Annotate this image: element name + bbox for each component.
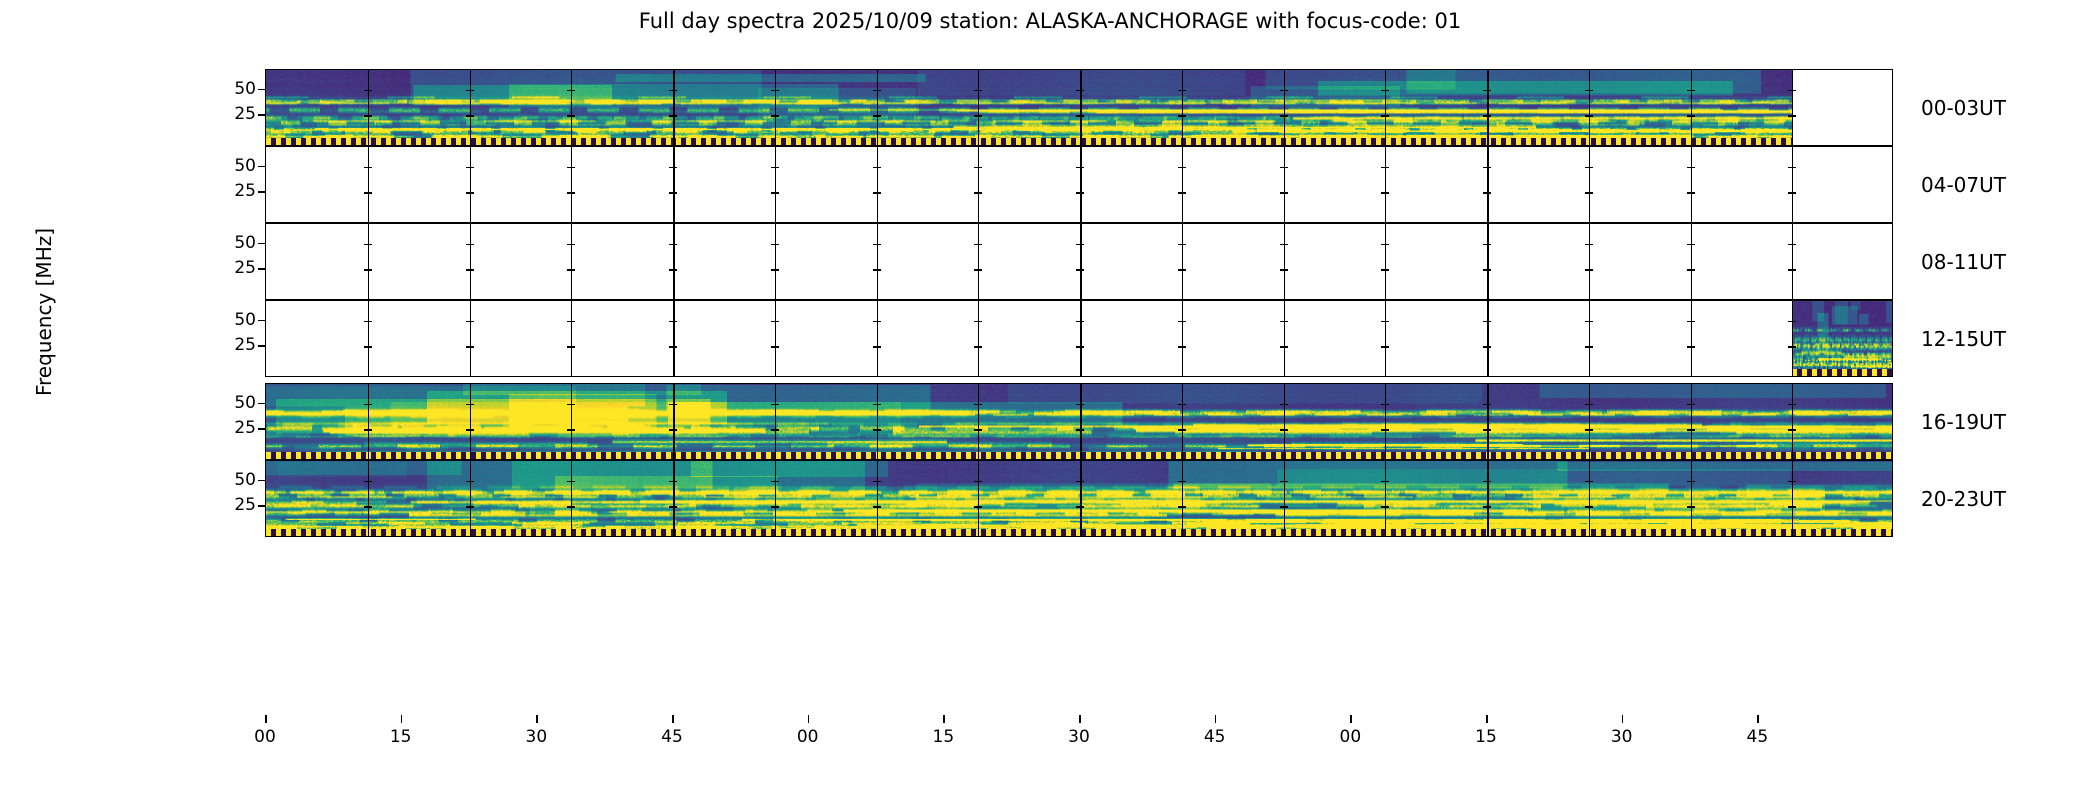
x-tick-label: 00 — [254, 727, 276, 747]
y-tick-inner — [1076, 269, 1084, 271]
y-tick-inner — [669, 192, 677, 194]
y-tick-inner — [1076, 167, 1084, 169]
y-tick-inner — [567, 404, 575, 406]
segment-separator — [1080, 224, 1082, 299]
x-tick-label: 30 — [1611, 727, 1633, 747]
y-tick-inner — [974, 192, 982, 194]
y-tick-inner — [873, 167, 881, 169]
y-tick-label-25: 25 — [234, 418, 256, 438]
segment-separator — [1589, 147, 1590, 222]
y-tick-inner — [1483, 244, 1491, 246]
segment-separator — [1385, 147, 1386, 222]
y-tick-inner — [466, 506, 474, 508]
y-tick-inner — [1280, 506, 1288, 508]
y-tick-inner — [1178, 115, 1186, 117]
segment-separator — [571, 70, 572, 145]
segment-separator — [1691, 461, 1692, 536]
segment-separator — [978, 147, 979, 222]
y-tick-label-50: 50 — [234, 310, 256, 330]
y-tick-inner — [1076, 192, 1084, 194]
figure-title: Full day spectra 2025/10/09 station: ALA… — [0, 9, 2100, 33]
row-plot-area[interactable] — [265, 460, 1893, 537]
segment-separator — [470, 147, 471, 222]
y-tick-inner — [873, 506, 881, 508]
segment-separator — [978, 224, 979, 299]
y-tick-inner — [1585, 167, 1593, 169]
y-tick-inner — [364, 244, 372, 246]
y-tick-inner — [1788, 481, 1796, 483]
row-plot-area[interactable] — [265, 69, 1893, 146]
segment-separator — [1589, 384, 1590, 459]
y-tick-inner — [771, 269, 779, 271]
y-tick-inner — [771, 404, 779, 406]
y-tick-label-50: 50 — [234, 470, 256, 490]
y-tick-inner — [567, 192, 575, 194]
y-tick-inner — [1788, 167, 1796, 169]
y-tick-inner — [1076, 90, 1084, 92]
y-tick-inner — [1585, 192, 1593, 194]
segment-separator — [775, 147, 776, 222]
x-tick — [808, 715, 810, 723]
y-tick-inner — [771, 115, 779, 117]
y-tick-inner — [1585, 506, 1593, 508]
segment-separator — [673, 70, 675, 145]
y-tick-inner — [1687, 404, 1695, 406]
y-tick-inner — [1280, 115, 1288, 117]
y-tick-inner — [1280, 321, 1288, 323]
y-tick-inner — [1381, 429, 1389, 431]
segment-separator — [1182, 224, 1183, 299]
y-tick-label-50: 50 — [234, 393, 256, 413]
y-tick-inner — [364, 167, 372, 169]
y-tick-inner — [567, 269, 575, 271]
y-tick-inner — [1280, 481, 1288, 483]
x-tick-label: 45 — [1747, 727, 1769, 747]
y-tick-inner — [1687, 244, 1695, 246]
x-tick-label: 15 — [390, 727, 412, 747]
segment-separator — [1080, 147, 1082, 222]
y-tick-inner — [974, 269, 982, 271]
y-tick-label-25: 25 — [234, 181, 256, 201]
segment-separator — [470, 301, 471, 376]
y-tick-inner — [1381, 481, 1389, 483]
y-tick-inner — [1687, 481, 1695, 483]
segment-separator — [1284, 301, 1285, 376]
segment-separator — [1487, 70, 1489, 145]
segment-separator — [775, 384, 776, 459]
y-tick-inner — [1381, 115, 1389, 117]
y-tick-inner — [1076, 115, 1084, 117]
segment-separator — [1792, 224, 1793, 299]
y-tick-inner — [1280, 404, 1288, 406]
y-tick-inner — [1381, 404, 1389, 406]
y-tick-inner — [364, 269, 372, 271]
y-tick-inner — [1381, 90, 1389, 92]
segment-separator — [1792, 70, 1793, 145]
y-tick-inner — [873, 429, 881, 431]
y-tick-inner — [1788, 244, 1796, 246]
y-tick-inner — [1483, 269, 1491, 271]
segment-separator — [1284, 384, 1285, 459]
y-tick-inner — [364, 404, 372, 406]
x-tick — [1486, 715, 1488, 723]
segment-separator — [571, 224, 572, 299]
y-tick-inner — [974, 167, 982, 169]
x-axis: 001530450015304500153045 — [265, 715, 1893, 775]
y-tick-inner — [1280, 167, 1288, 169]
segment-separator — [1792, 147, 1793, 222]
segment-separator — [1691, 224, 1692, 299]
y-tick-inner — [873, 192, 881, 194]
y-tick-inner — [771, 429, 779, 431]
y-tick-inner — [974, 115, 982, 117]
y-tick-inner — [974, 321, 982, 323]
y-tick-inner — [1076, 506, 1084, 508]
x-tick-label: 45 — [661, 727, 683, 747]
y-tick-inner — [873, 321, 881, 323]
segment-separator — [368, 384, 369, 459]
row-time-label: 16-19UT — [1921, 410, 2006, 434]
y-tick-inner — [771, 506, 779, 508]
segment-separator — [775, 301, 776, 376]
segment-separator — [1589, 70, 1590, 145]
y-tick-inner — [974, 90, 982, 92]
y-tick-inner — [1076, 321, 1084, 323]
y-tick-inner — [873, 115, 881, 117]
y-tick-inner — [873, 481, 881, 483]
y-tick-inner — [1280, 269, 1288, 271]
y-tick-label-25: 25 — [234, 104, 256, 124]
segment-separator — [1385, 461, 1386, 536]
row-time-label: 08-11UT — [1921, 250, 2006, 274]
segment-separator — [571, 461, 572, 536]
y-tick-inner — [1381, 506, 1389, 508]
y-tick-inner — [1585, 269, 1593, 271]
y-tick-inner — [873, 404, 881, 406]
y-tick-inner — [669, 346, 677, 348]
y-tick-inner — [364, 429, 372, 431]
y-tick-inner — [567, 321, 575, 323]
spectrogram-figure: Full day spectra 2025/10/09 station: ALA… — [0, 0, 2100, 800]
segment-separator — [1589, 301, 1590, 376]
spectrogram-row-12-15ut: 502512-15UT — [265, 300, 1893, 377]
y-tick-inner — [1178, 404, 1186, 406]
y-tick-inner — [466, 321, 474, 323]
segment-separator — [1691, 301, 1692, 376]
x-tick — [1215, 715, 1217, 723]
segment-separator — [1182, 70, 1183, 145]
y-tick-inner — [1687, 269, 1695, 271]
y-tick-inner — [974, 506, 982, 508]
segment-separator — [1182, 147, 1183, 222]
row-time-label: 04-07UT — [1921, 173, 2006, 197]
x-tick — [401, 715, 403, 723]
y-tick-inner — [1687, 115, 1695, 117]
y-tick-inner — [1280, 429, 1288, 431]
y-tick-inner — [1178, 90, 1186, 92]
y-tick-inner — [1585, 404, 1593, 406]
y-tick-inner — [1178, 192, 1186, 194]
y-tick-inner — [466, 481, 474, 483]
x-tick-label: 00 — [797, 727, 819, 747]
segment-separator — [470, 70, 471, 145]
y-tick-inner — [1585, 346, 1593, 348]
x-tick — [672, 715, 674, 723]
y-tick-inner — [364, 192, 372, 194]
segment-separator — [673, 224, 675, 299]
y-tick-inner — [1280, 90, 1288, 92]
y-tick-inner — [1381, 269, 1389, 271]
y-tick-inner — [1687, 167, 1695, 169]
segment-separator — [877, 70, 878, 145]
y-tick-inner — [669, 429, 677, 431]
y-tick-inner — [1788, 192, 1796, 194]
y-tick-inner — [1178, 481, 1186, 483]
segment-separator — [1385, 224, 1386, 299]
y-tick-inner — [466, 167, 474, 169]
segment-separator — [1487, 224, 1489, 299]
time-coverage-strip — [266, 138, 1792, 145]
y-tick-inner — [1585, 429, 1593, 431]
x-tick-label: 15 — [1475, 727, 1497, 747]
y-tick-inner — [466, 269, 474, 271]
segment-separator — [1589, 224, 1590, 299]
segment-separator — [1182, 384, 1183, 459]
y-tick-inner — [1178, 167, 1186, 169]
segment-separator — [978, 70, 979, 145]
segment-separator — [470, 461, 471, 536]
segment-separator — [1691, 147, 1692, 222]
spectrogram-row-20-23ut: 502520-23UT — [265, 460, 1893, 537]
y-tick-label-25: 25 — [234, 335, 256, 355]
x-tick — [943, 715, 945, 723]
y-tick-inner — [669, 506, 677, 508]
segment-separator — [877, 224, 878, 299]
y-tick-inner — [1788, 404, 1796, 406]
y-tick-inner — [1585, 244, 1593, 246]
y-tick-label-50: 50 — [234, 79, 256, 99]
row-time-label: 20-23UT — [1921, 487, 2006, 511]
segment-separator — [368, 147, 369, 222]
segment-separator — [571, 147, 572, 222]
y-tick-inner — [364, 481, 372, 483]
x-tick-label: 30 — [1068, 727, 1090, 747]
y-tick-inner — [1076, 244, 1084, 246]
y-tick-inner — [771, 244, 779, 246]
spectrogram-image — [266, 70, 1792, 145]
y-tick-inner — [1483, 429, 1491, 431]
segment-separator — [877, 384, 878, 459]
row-time-label: 12-15UT — [1921, 327, 2006, 351]
y-tick-inner — [771, 481, 779, 483]
y-tick-inner — [1381, 346, 1389, 348]
row-plot-area[interactable] — [265, 146, 1893, 223]
x-tick — [1079, 715, 1081, 723]
x-tick — [265, 715, 267, 723]
y-tick-inner — [1687, 346, 1695, 348]
segment-separator — [1487, 147, 1489, 222]
segment-separator — [673, 301, 675, 376]
segment-separator — [1792, 461, 1793, 536]
x-tick-label: 30 — [526, 727, 548, 747]
time-coverage-strip — [1792, 369, 1893, 376]
y-tick-inner — [1483, 404, 1491, 406]
y-tick-inner — [771, 192, 779, 194]
row-plot-area[interactable] — [265, 223, 1893, 300]
segment-separator — [1792, 301, 1793, 376]
segment-separator — [877, 147, 878, 222]
segment-separator — [368, 461, 369, 536]
y-tick-inner — [1381, 244, 1389, 246]
segment-separator — [1284, 224, 1285, 299]
y-tick-inner — [873, 346, 881, 348]
y-tick-inner — [771, 346, 779, 348]
y-tick-inner — [669, 481, 677, 483]
spectrogram-row-16-19ut: 502516-19UT — [265, 383, 1893, 460]
segment-separator — [1385, 70, 1386, 145]
y-tick-inner — [974, 244, 982, 246]
y-tick-inner — [873, 269, 881, 271]
y-tick-inner — [771, 167, 779, 169]
y-tick-inner — [1585, 115, 1593, 117]
y-tick-inner — [1280, 192, 1288, 194]
y-tick-inner — [567, 90, 575, 92]
y-tick-inner — [1483, 90, 1491, 92]
segment-separator — [1080, 384, 1082, 459]
y-tick-inner — [567, 481, 575, 483]
y-tick-inner — [1788, 506, 1796, 508]
segment-separator — [1487, 461, 1489, 536]
segment-separator — [1182, 461, 1183, 536]
segment-separator — [673, 147, 675, 222]
y-tick-inner — [1483, 115, 1491, 117]
spectrogram-image — [1792, 301, 1893, 376]
y-tick-inner — [1788, 429, 1796, 431]
y-tick-inner — [466, 192, 474, 194]
y-tick-inner — [1381, 167, 1389, 169]
y-tick-inner — [567, 167, 575, 169]
y-tick-inner — [1178, 321, 1186, 323]
y-tick-inner — [1178, 429, 1186, 431]
segment-separator — [673, 384, 675, 459]
row-plot-area[interactable] — [265, 300, 1893, 377]
spectrogram-row-08-11ut: 502508-11UT — [265, 223, 1893, 300]
y-tick-inner — [1076, 429, 1084, 431]
segment-separator — [368, 224, 369, 299]
x-tick — [1757, 715, 1759, 723]
segment-separator — [368, 70, 369, 145]
segment-separator — [470, 384, 471, 459]
segment-separator — [978, 301, 979, 376]
x-tick — [1350, 715, 1352, 723]
y-tick-label-25: 25 — [234, 495, 256, 515]
y-tick-inner — [974, 481, 982, 483]
y-tick-label-50: 50 — [234, 156, 256, 176]
y-tick-inner — [1381, 321, 1389, 323]
y-tick-inner — [567, 115, 575, 117]
y-tick-inner — [1585, 321, 1593, 323]
segment-separator — [1080, 461, 1082, 536]
y-tick-inner — [364, 346, 372, 348]
y-tick-inner — [669, 90, 677, 92]
y-tick-inner — [1076, 346, 1084, 348]
y-tick-inner — [1788, 115, 1796, 117]
segment-separator — [1080, 301, 1082, 376]
y-tick-inner — [1178, 506, 1186, 508]
spectrogram-row-00-03ut: 502500-03UT — [265, 69, 1893, 146]
y-tick-inner — [1687, 90, 1695, 92]
y-tick-inner — [974, 346, 982, 348]
y-tick-inner — [974, 429, 982, 431]
x-tick-label: 45 — [1204, 727, 1226, 747]
y-tick-inner — [669, 167, 677, 169]
y-tick-inner — [1483, 321, 1491, 323]
y-tick-label-25: 25 — [234, 258, 256, 278]
segment-separator — [673, 461, 675, 536]
segment-separator — [1284, 461, 1285, 536]
y-tick-inner — [364, 115, 372, 117]
segment-separator — [1080, 70, 1082, 145]
y-axis-label: Frequency [MHz] — [32, 172, 56, 452]
row-plot-area[interactable] — [265, 383, 1893, 460]
y-tick-inner — [1178, 346, 1186, 348]
y-tick-inner — [669, 404, 677, 406]
y-tick-inner — [1788, 346, 1796, 348]
y-tick-inner — [873, 90, 881, 92]
y-tick-inner — [1687, 429, 1695, 431]
segment-separator — [368, 301, 369, 376]
x-tick — [1622, 715, 1624, 723]
segment-separator — [571, 384, 572, 459]
segment-separator — [775, 224, 776, 299]
spectrogram-row-04-07ut: 502504-07UT — [265, 146, 1893, 223]
y-tick-inner — [567, 429, 575, 431]
segment-separator — [775, 70, 776, 145]
y-tick-inner — [669, 244, 677, 246]
y-tick-inner — [1280, 244, 1288, 246]
y-tick-inner — [466, 404, 474, 406]
segment-separator — [1385, 384, 1386, 459]
y-tick-inner — [771, 321, 779, 323]
y-tick-inner — [1483, 192, 1491, 194]
segment-separator — [1487, 301, 1489, 376]
y-tick-inner — [1788, 90, 1796, 92]
y-tick-inner — [364, 506, 372, 508]
y-tick-inner — [1178, 269, 1186, 271]
x-tick-label: 00 — [1340, 727, 1362, 747]
x-tick — [536, 715, 538, 723]
x-tick-label: 15 — [933, 727, 955, 747]
y-tick-inner — [567, 506, 575, 508]
y-tick-inner — [466, 429, 474, 431]
segment-separator — [470, 224, 471, 299]
y-tick-inner — [1483, 506, 1491, 508]
y-tick-inner — [364, 90, 372, 92]
y-tick-inner — [1381, 192, 1389, 194]
y-tick-inner — [466, 346, 474, 348]
y-tick-inner — [1483, 481, 1491, 483]
y-tick-inner — [567, 244, 575, 246]
y-tick-inner — [364, 321, 372, 323]
y-tick-inner — [567, 346, 575, 348]
segment-separator — [1589, 461, 1590, 536]
y-tick-inner — [1178, 244, 1186, 246]
y-tick-inner — [1585, 90, 1593, 92]
segment-separator — [775, 461, 776, 536]
y-tick-inner — [1788, 321, 1796, 323]
y-tick-inner — [1585, 481, 1593, 483]
y-tick-inner — [669, 321, 677, 323]
